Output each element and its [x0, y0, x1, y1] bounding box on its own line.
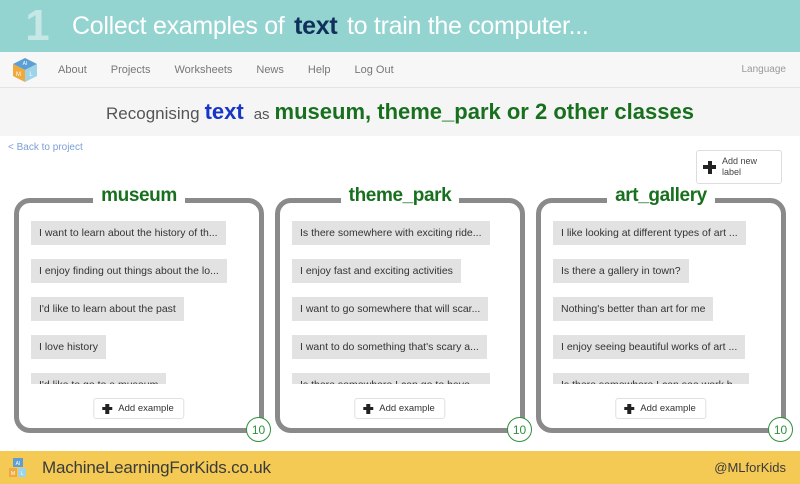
- list-item[interactable]: I love history: [31, 335, 106, 359]
- step-text-after: to train the computer...: [347, 12, 589, 40]
- label-title-art-gallery: art_gallery: [607, 185, 715, 206]
- add-example-button-theme-park[interactable]: Add example: [354, 398, 445, 419]
- svg-text:AI: AI: [23, 61, 28, 67]
- add-new-label-text: Add new label: [722, 156, 757, 178]
- main-content: < Back to project Add new label museum I…: [0, 136, 800, 442]
- footer: AI M L MachineLearningForKids.co.uk @MLf…: [0, 451, 800, 484]
- list-item[interactable]: I want to go somewhere that will scar...: [292, 297, 488, 321]
- list-item[interactable]: I'd like to learn about the past: [31, 297, 184, 321]
- nav-item-projects[interactable]: Projects: [111, 64, 151, 76]
- nav-item-log-out[interactable]: Log Out: [355, 64, 394, 76]
- list-item[interactable]: Nothing's better than art for me: [553, 297, 713, 321]
- examples-list-museum: I want to learn about the history of th.…: [31, 221, 247, 384]
- label-card-art-gallery: art_gallery I like looking at different …: [536, 198, 786, 433]
- list-item[interactable]: I want to learn about the history of th.…: [31, 221, 226, 245]
- nav-item-help[interactable]: Help: [308, 64, 331, 76]
- nav-item-about[interactable]: About: [58, 64, 87, 76]
- plus-icon: [102, 404, 112, 414]
- headline-as: as: [249, 106, 275, 123]
- svg-text:AI: AI: [16, 461, 21, 467]
- label-card-title: theme_park: [280, 185, 520, 207]
- step-text-before: Collect examples of: [72, 12, 284, 40]
- list-item[interactable]: I enjoy seeing beautiful works of art ..…: [553, 335, 745, 359]
- plus-icon: [703, 161, 716, 174]
- list-item[interactable]: I enjoy finding out things about the lo.…: [31, 259, 227, 283]
- svg-text:L: L: [21, 471, 24, 477]
- list-item[interactable]: Is there a gallery in town?: [553, 259, 689, 283]
- ml-cube-logo-icon: AI M L: [8, 457, 28, 479]
- list-item[interactable]: I like looking at different types of art…: [553, 221, 746, 245]
- ml-cube-logo-icon[interactable]: AI M L: [10, 56, 40, 84]
- add-example-button-museum[interactable]: Add example: [93, 398, 184, 419]
- nav-menu: About Projects Worksheets News Help Log …: [58, 64, 418, 76]
- list-item[interactable]: I enjoy fast and exciting activities: [292, 259, 461, 283]
- list-item[interactable]: Is there somewhere I can go to have ...: [292, 373, 490, 384]
- label-card-title: art_gallery: [541, 185, 781, 207]
- svg-text:M: M: [16, 72, 21, 78]
- plus-icon: [363, 404, 373, 414]
- label-title-theme-park: theme_park: [341, 185, 460, 206]
- count-badge-theme-park: 10: [507, 417, 532, 442]
- count-badge-art-gallery: 10: [768, 417, 793, 442]
- label-title-museum: museum: [93, 185, 185, 206]
- nav-item-news[interactable]: News: [256, 64, 284, 76]
- count-badge-museum: 10: [246, 417, 271, 442]
- list-item[interactable]: I'd like to go to a museum: [31, 373, 166, 384]
- step-headline: Collect examples of text to train the co…: [72, 12, 589, 41]
- add-new-label-line1: Add new: [722, 156, 757, 166]
- label-card-museum: museum I want to learn about the history…: [14, 198, 264, 433]
- add-new-label-line2: label: [722, 167, 741, 177]
- page-root: 1 Collect examples of text to train the …: [0, 0, 800, 484]
- step-banner: 1 Collect examples of text to train the …: [0, 0, 800, 52]
- examples-list-art-gallery: I like looking at different types of art…: [553, 221, 769, 384]
- add-new-label-button[interactable]: Add new label: [696, 150, 782, 184]
- list-item[interactable]: I want to do something that's scary a...: [292, 335, 487, 359]
- headline-type: text: [200, 99, 249, 124]
- headline-band: Recognisingtextasmuseum, theme_park or 2…: [0, 88, 800, 136]
- back-to-project-link[interactable]: < Back to project: [8, 142, 83, 153]
- language-selector[interactable]: Language: [742, 64, 787, 75]
- add-example-label: Add example: [118, 403, 173, 414]
- headline-prefix: Recognising: [106, 104, 200, 123]
- footer-handle: @MLforKids: [714, 460, 786, 475]
- list-item[interactable]: Is there somewhere I can see work b...: [553, 373, 749, 384]
- add-example-label: Add example: [640, 403, 695, 414]
- nav-item-worksheets[interactable]: Worksheets: [175, 64, 233, 76]
- navbar: AI M L About Projects Worksheets News He…: [0, 52, 800, 88]
- list-item[interactable]: Is there somewhere with exciting ride...: [292, 221, 490, 245]
- step-keyword: text: [291, 12, 340, 40]
- step-number: 1: [14, 4, 60, 48]
- plus-icon: [624, 404, 634, 414]
- footer-site-name: MachineLearningForKids.co.uk: [42, 458, 271, 478]
- label-card-theme-park: theme_park Is there somewhere with excit…: [275, 198, 525, 433]
- examples-list-theme-park: Is there somewhere with exciting ride...…: [292, 221, 508, 384]
- svg-text:M: M: [11, 471, 15, 477]
- headline-classes: museum, theme_park or 2 other classes: [275, 99, 694, 124]
- label-card-title: museum: [19, 185, 259, 207]
- label-columns: museum I want to learn about the history…: [0, 198, 800, 433]
- add-example-button-art-gallery[interactable]: Add example: [615, 398, 706, 419]
- page-title: Recognisingtextasmuseum, theme_park or 2…: [106, 99, 694, 125]
- add-example-label: Add example: [379, 403, 434, 414]
